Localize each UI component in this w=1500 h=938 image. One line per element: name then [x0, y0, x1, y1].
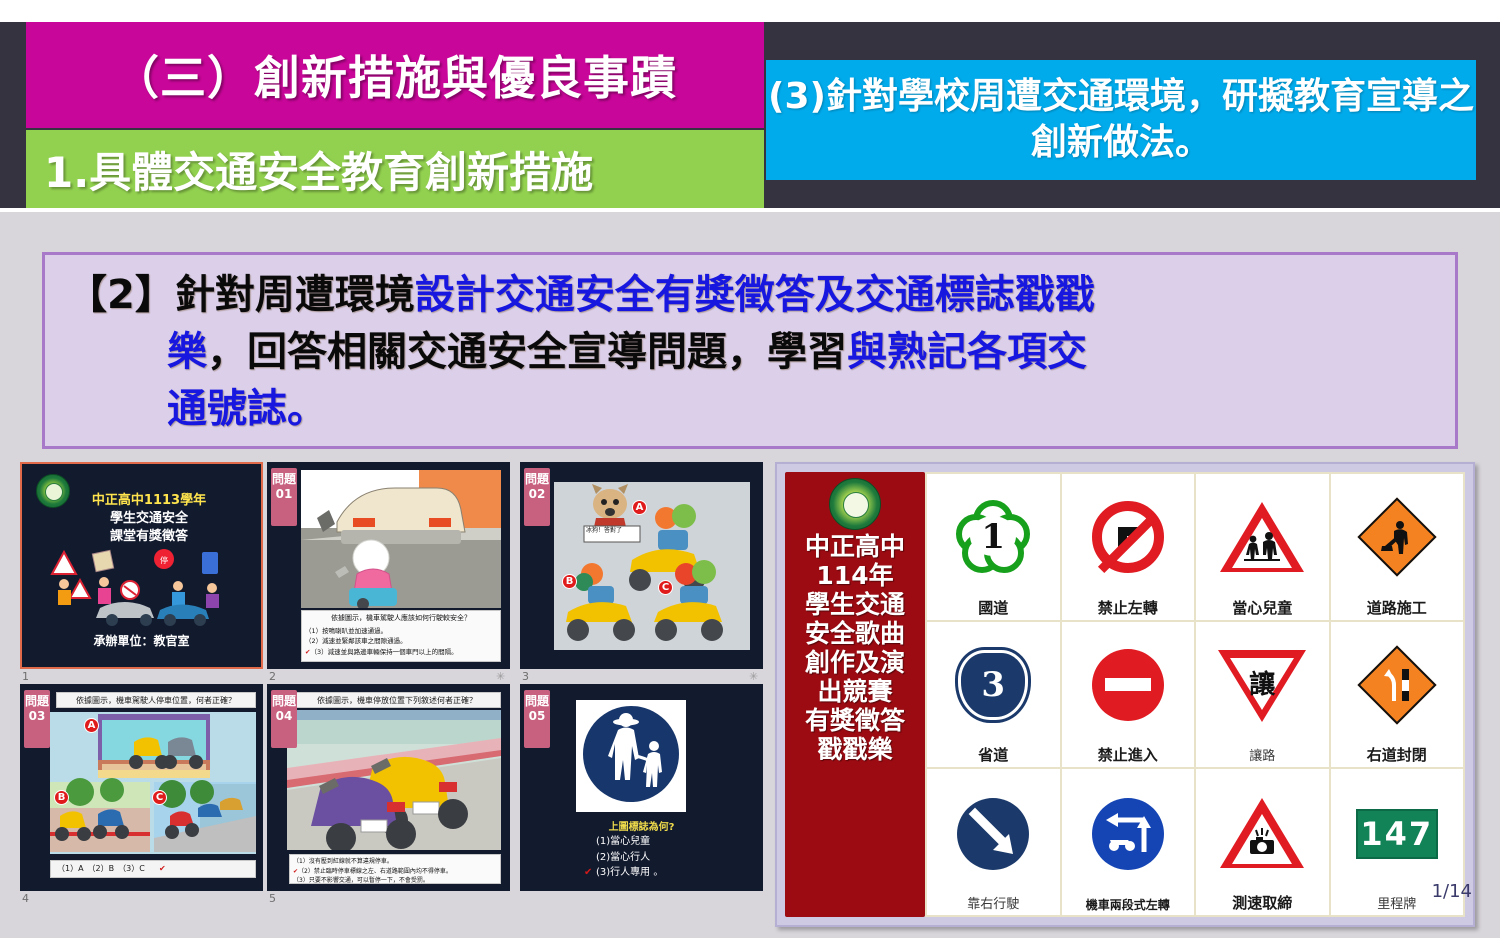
banner-line-7: 有獎徵答 [805, 706, 905, 735]
statement-line1-blue: 設計交通安全有獎徵答及交通標誌戳戳 [415, 272, 1095, 318]
sign-caption: 測速取締 [1232, 896, 1292, 911]
sign-caption: 省道 [978, 748, 1008, 763]
question-tag-04: 問題 04 [271, 690, 297, 748]
question-tag-number: 04 [271, 710, 297, 723]
board-banner: 中正高中 114年 學生交通 安全歌曲 創作及演 出競賽 有獎徵答 戳戳樂 [785, 472, 925, 917]
slide5-number: 5 [269, 892, 276, 905]
right-note-banner: (3)針對學校周遭交通環境，研擬教育宣導之創新做法。 [766, 60, 1476, 180]
slide6-option-3: (3)行人專用 。 [596, 867, 663, 878]
slide2-number: 2 [269, 670, 276, 683]
banner-line-1: 中正高中 [805, 532, 905, 561]
question-tag-label: 問題 [525, 694, 549, 708]
question-tag-02: 問題 02 [524, 468, 550, 526]
milepost-number: 147 [1360, 815, 1433, 853]
page-number: 1/14 [1432, 881, 1472, 902]
statement-line-1: 【2】針對周遭環境設計交通安全有獎徵答及交通標誌戳戳 [67, 267, 1435, 324]
slide6-option-1: (1)當心兒童 [596, 834, 663, 850]
question-tag-number: 01 [271, 488, 297, 501]
statement-box: 【2】針對周遭環境設計交通安全有獎徵答及交通標誌戳戳 樂，回答相關交通安全宣導問… [42, 252, 1458, 449]
sign-cell-yield[interactable]: 讓 讓路 [1196, 622, 1329, 768]
statement-line3-blue: 通號誌。 [167, 386, 327, 432]
slide1-title-line2: 學生交通安全 [44, 507, 254, 526]
sign-cell-no-left-turn[interactable]: 禁止左轉 [1062, 474, 1195, 620]
banner-line-4: 安全歌曲 [805, 619, 905, 648]
slide2-question: 依據圖示，機車駕駛人應該如何行駛較安全？ [305, 613, 497, 625]
slide4-illustration [50, 712, 256, 854]
sign-caption: 機車兩段式左轉 [1086, 899, 1170, 911]
slide4-answer-row: （1）A （2）B （3）C ✔ [50, 860, 256, 878]
slide1-title-line3: 課堂有獎徵答 [44, 525, 254, 544]
slide-page: （三）創新措施與優良事蹟 1.具體交通安全教育創新措施 (3)針對學校周遭交通環… [0, 0, 1500, 938]
no-left-turn-icon [1092, 501, 1164, 573]
sign-grid: 1 國道 禁止左轉 [925, 472, 1465, 917]
sign-caption: 禁止左轉 [1098, 601, 1158, 616]
slide2-option-1: （1）按鳴喇叭並加速通過。 [305, 626, 497, 637]
no-entry-icon [1092, 649, 1164, 721]
slide3-choice-c: C [658, 580, 673, 595]
yield-glyph: 讓 [1240, 664, 1284, 701]
right-note-text: (3)針對學校周遭交通環境，研擬教育宣導之創新做法。 [766, 74, 1476, 166]
banner-line-8: 戳戳樂 [817, 735, 892, 764]
slide4-question: 依據圖示，機車駕駛人停車位置，何者正確？ [56, 692, 256, 708]
slide1-footer: 承辦單位：教官室 [22, 632, 261, 649]
question-tag-label: 問題 [25, 694, 49, 708]
speed-camera-icon [1220, 798, 1304, 868]
banner-line-2: 114年 [816, 561, 893, 590]
svg-text:停: 停 [160, 555, 168, 565]
question-tag-number: 03 [24, 710, 50, 723]
slide1-number: 1 [22, 670, 29, 683]
slide5-option-1: （1）沒有壓到紅線就不算違規停車。 [293, 857, 497, 867]
school-crest-icon [829, 478, 881, 530]
provincial-route-shield-icon: 3 [958, 650, 1028, 720]
plum-blossom-route-icon: 1 [956, 500, 1030, 574]
slide4-choice-a: A [84, 718, 99, 733]
route-number: 3 [981, 665, 1005, 705]
question-tag-label: 問題 [272, 472, 296, 486]
question-tag-05: 問題 05 [524, 690, 550, 748]
slide-thumbnail-1[interactable]: 中正高中1113學年 學生交通安全 課堂有獎徵答 停 承辦單位：教官室 [20, 462, 263, 669]
statement-line1-black: 【2】針對周遭環境 [67, 272, 415, 318]
pedestrian-only-sign-icon [576, 700, 686, 812]
slide6-answer-tick-icon: ✔ [584, 865, 592, 881]
watch-for-children-icon [1220, 502, 1304, 572]
banner-line-3: 學生交通 [805, 590, 905, 619]
slide-thumbnail-2[interactable]: 問題 01 依據圖示，機車駕駛人應該如何行駛較安全？ （1）按鳴喇叭並加速通過。… [267, 462, 510, 669]
sign-caption: 里程牌 [1377, 898, 1416, 911]
slide1-illustration: 停 [42, 546, 247, 628]
banner-line-5: 創作及演 [805, 648, 905, 677]
traffic-sign-board[interactable]: 中正高中 114年 學生交通 安全歌曲 創作及演 出競賽 有獎徵答 戳戳樂 1 … [775, 462, 1475, 927]
keep-right-icon [957, 798, 1029, 870]
slide2-option-3: （3）減速並與路邊車輛保持一個車門以上的間隔。 [310, 648, 457, 656]
statement-line2-black: ，回答相關交通安全宣導問題，學習 [207, 329, 847, 375]
question-tag-number: 02 [524, 488, 550, 501]
sign-caption: 國道 [978, 601, 1008, 616]
statement-line-2: 樂，回答相關交通安全宣導問題，學習與熟記各項交 [67, 324, 1435, 381]
question-tag-01: 問題 01 [271, 468, 297, 526]
right-lane-closed-icon [1357, 645, 1436, 724]
sign-caption: 右道封閉 [1367, 748, 1427, 763]
slide3-number: 3 [522, 670, 529, 683]
question-tag-label: 問題 [272, 694, 296, 708]
route-number: 1 [981, 517, 1005, 557]
slide5-option-block: （1）沒有壓到紅線就不算違規停車。 ✔（2）禁止臨時停車標線之左、右道路範圍內均… [289, 854, 501, 884]
question-tag-03: 問題 03 [24, 690, 50, 748]
subsection-title-banner: 1.具體交通安全教育創新措施 [26, 130, 764, 208]
slide6-question: 上圖標誌為何? [520, 818, 763, 833]
slide5-option-2: （2）禁止臨時停車標線之左、右道路範圍內均不得停車。 [298, 868, 452, 875]
sign-caption: 讓路 [1249, 750, 1275, 763]
two-stage-left-turn-icon [1092, 798, 1164, 870]
slide-thumbnail-4[interactable]: 問題 03 依據圖示，機車駕駛人停車位置，何者正確？ [20, 684, 263, 891]
slide3-choice-a: A [632, 500, 647, 515]
milepost-icon: 147 [1356, 809, 1438, 859]
sign-cell-provincial-highway[interactable]: 3 省道 [927, 622, 1060, 768]
yield-icon: 讓 [1218, 650, 1306, 722]
sign-cell-keep-right[interactable]: 靠右行駛 [927, 769, 1060, 915]
sign-cell-two-stage-left-turn[interactable]: 機車兩段式左轉 [1062, 769, 1195, 915]
sign-cell-national-highway[interactable]: 1 國道 [927, 474, 1060, 620]
slide5-illustration [287, 710, 501, 850]
slide-thumbnail-5[interactable]: 問題 04 依據圖示，機車停放位置下列敘述何者正確？ [267, 684, 510, 891]
slide-thumbnail-6[interactable]: 問題 05 上圖標誌為何? (1)當心兒童 (2)當心行人 ✔(3)行人專用 。 [520, 684, 763, 891]
statement-line-3: 通號誌。 [67, 381, 1435, 438]
slide5-question: 依據圖示，機車停放位置下列敘述何者正確？ [293, 692, 501, 708]
slide1-title-line1: 中正高中1113學年 [44, 489, 254, 508]
sign-caption: 靠右行駛 [967, 898, 1019, 911]
road-work-icon [1357, 498, 1436, 577]
sign-cell-watch-for-children[interactable]: 當心兒童 [1196, 474, 1329, 620]
question-tag-label: 問題 [525, 472, 549, 486]
slide4-choice-c: C [152, 790, 167, 805]
slide5-option-3: （3）只要不影響交通，可以暫停一下，不會受罰。 [293, 876, 497, 886]
slide4-answer-tick-icon: ✔ [159, 861, 166, 877]
statement-line2-blue-b: 與熟記各項交 [847, 329, 1087, 375]
question-tag-number: 05 [524, 710, 550, 723]
slide2-question-block: 依據圖示，機車駕駛人應該如何行駛較安全？ （1）按鳴喇叭並加速通過。 （2）減速… [301, 610, 501, 662]
slide2-star-icon: ✳ [496, 670, 505, 683]
slide2-option-2: （2）減速並緊鄰該車之間隙通過。 [305, 636, 497, 647]
slide-thumbnail-3[interactable]: 問題 02 [520, 462, 763, 669]
subsection-title-text: 1.具體交通安全教育創新措施 [44, 139, 593, 200]
sign-caption: 當心兒童 [1232, 601, 1292, 616]
sign-cell-speed-camera[interactable]: 測速取締 [1196, 769, 1329, 915]
banner-line-6: 出競賽 [817, 677, 892, 706]
section-title-banner: （三）創新措施與優良事蹟 [26, 22, 764, 128]
sign-cell-right-lane-closed[interactable]: 右道封閉 [1331, 622, 1464, 768]
slide3-callout: 冰狗！答對了 [586, 525, 622, 534]
slide4-number: 4 [22, 892, 29, 905]
statement-line2-blue-a: 樂 [167, 329, 207, 375]
sign-cell-no-entry[interactable]: 禁止進入 [1062, 622, 1195, 768]
slide3-star-icon: ✳ [749, 670, 758, 683]
sign-cell-road-work[interactable]: 道路施工 [1331, 474, 1464, 620]
slide6-options: (1)當心兒童 (2)當心行人 ✔(3)行人專用 。 [596, 834, 663, 881]
slide4-answer-text: （1）A （2）B （3）C [57, 864, 145, 873]
sign-caption: 道路施工 [1367, 601, 1427, 616]
slide6-option-2: (2)當心行人 [596, 850, 663, 866]
sign-caption: 禁止進入 [1098, 748, 1158, 763]
slide2-illustration [301, 470, 501, 608]
slide4-choice-b: B [54, 790, 69, 805]
section-title-text: （三）創新措施與優良事蹟 [113, 42, 677, 108]
slide3-choice-b: B [562, 574, 577, 589]
slide3-illustration [554, 482, 750, 650]
